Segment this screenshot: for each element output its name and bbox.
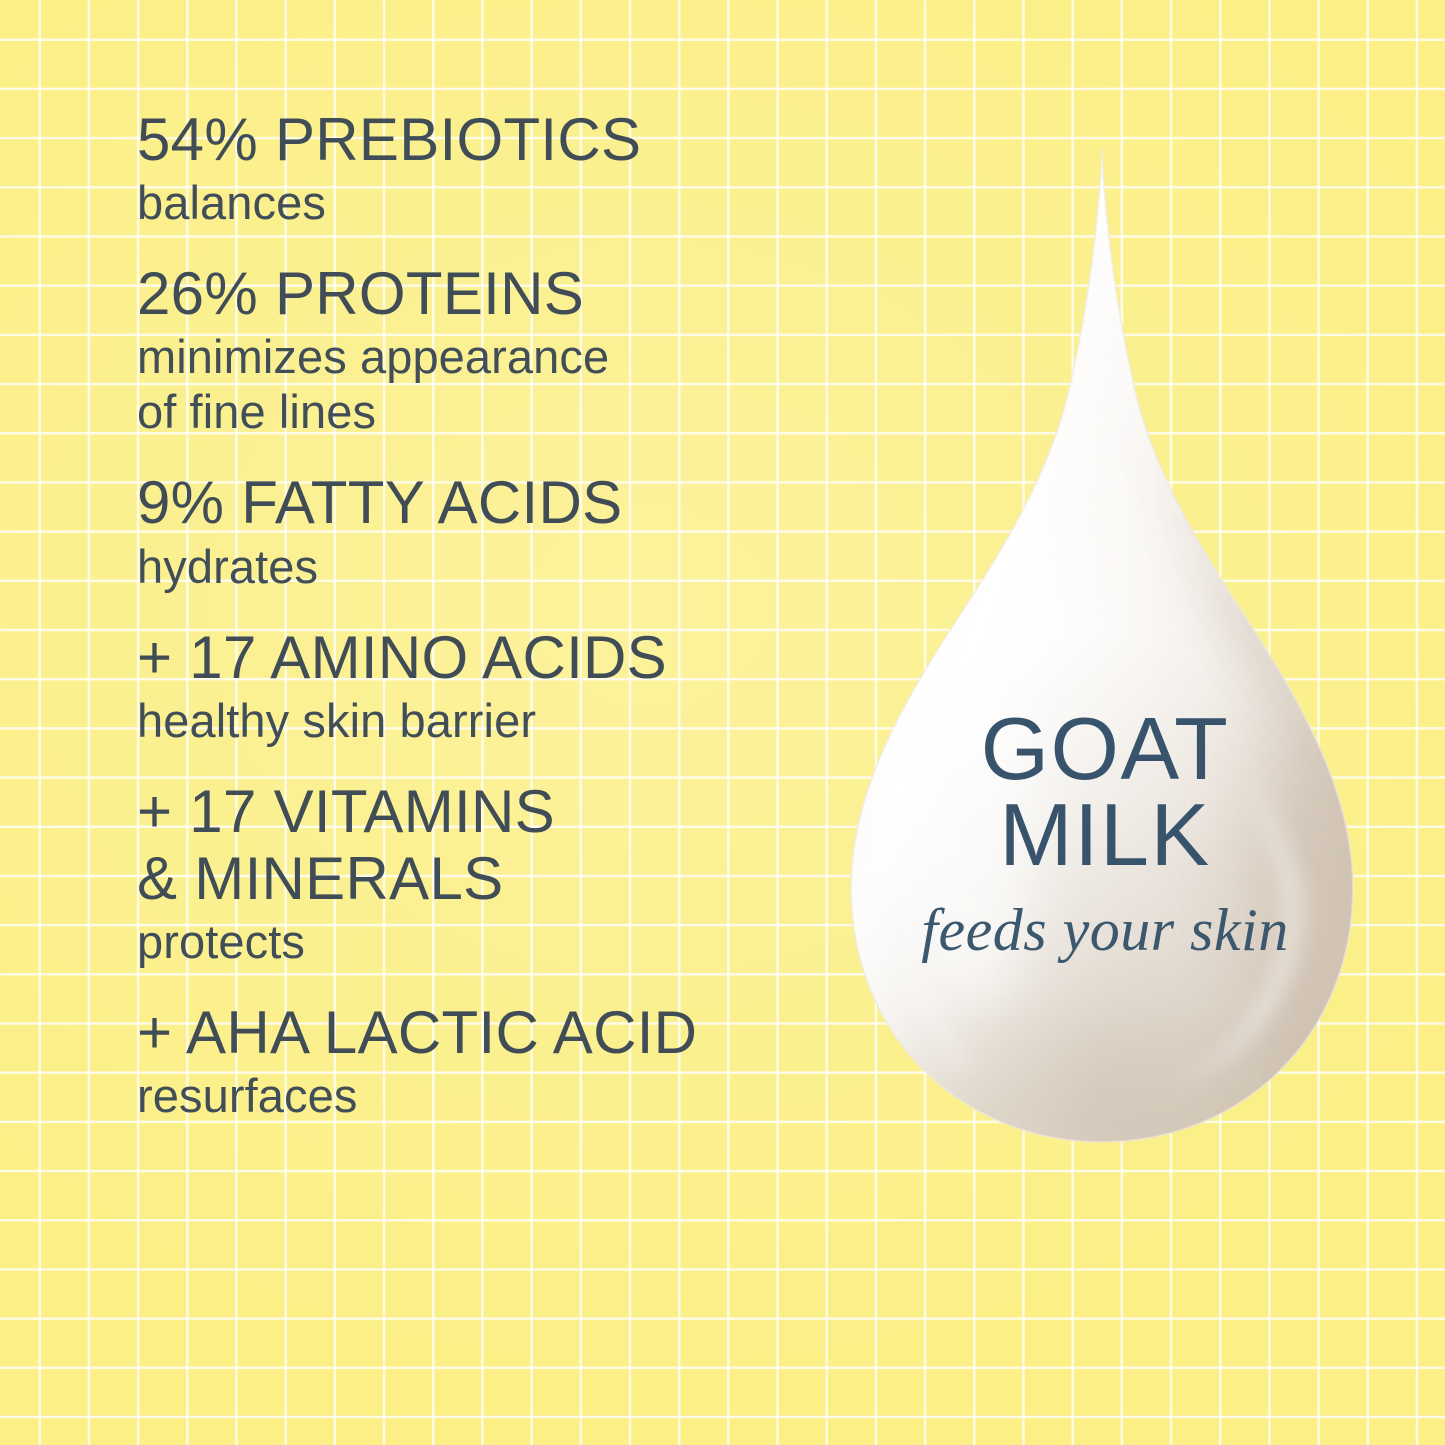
ingredient-title: 54% PREBIOTICS (137, 106, 797, 173)
ingredient-item-fatty-acids: 9% FATTY ACIDS hydrates (137, 469, 797, 594)
droplet-soft-highlight (911, 655, 1035, 1005)
ingredient-benefit: hydrates (137, 540, 797, 595)
milk-droplet-graphic: GOAT MILK feeds your skin (805, 140, 1405, 1170)
ingredient-title: + 17 VITAMINS & MINERALS (137, 778, 797, 912)
milk-droplet-icon (805, 140, 1405, 1170)
ingredient-item-vitamins-minerals: + 17 VITAMINS & MINERALS protects (137, 778, 797, 970)
ingredient-benefit: resurfaces (137, 1069, 797, 1124)
ingredient-item-proteins: 26% PROTEINS minimizes appearance of fin… (137, 260, 797, 440)
ingredient-benefit: protects (137, 915, 797, 970)
ingredient-item-amino-acids: + 17 AMINO ACIDS healthy skin barrier (137, 624, 797, 749)
ingredient-benefit: minimizes appearance of fine lines (137, 330, 797, 440)
ingredient-title: + AHA LACTIC ACID (137, 999, 797, 1066)
product-ingredient-infographic: 54% PREBIOTICS balances 26% PROTEINS min… (0, 0, 1445, 1445)
ingredient-title: 26% PROTEINS (137, 260, 797, 327)
ingredient-title: + 17 AMINO ACIDS (137, 624, 797, 691)
ingredient-list: 54% PREBIOTICS balances 26% PROTEINS min… (137, 106, 797, 1124)
ingredient-item-prebiotics: 54% PREBIOTICS balances (137, 106, 797, 231)
ingredient-title: 9% FATTY ACIDS (137, 469, 797, 536)
ingredient-item-aha-lactic-acid: + AHA LACTIC ACID resurfaces (137, 999, 797, 1124)
ingredient-benefit: balances (137, 176, 797, 231)
ingredient-benefit: healthy skin barrier (137, 694, 797, 749)
